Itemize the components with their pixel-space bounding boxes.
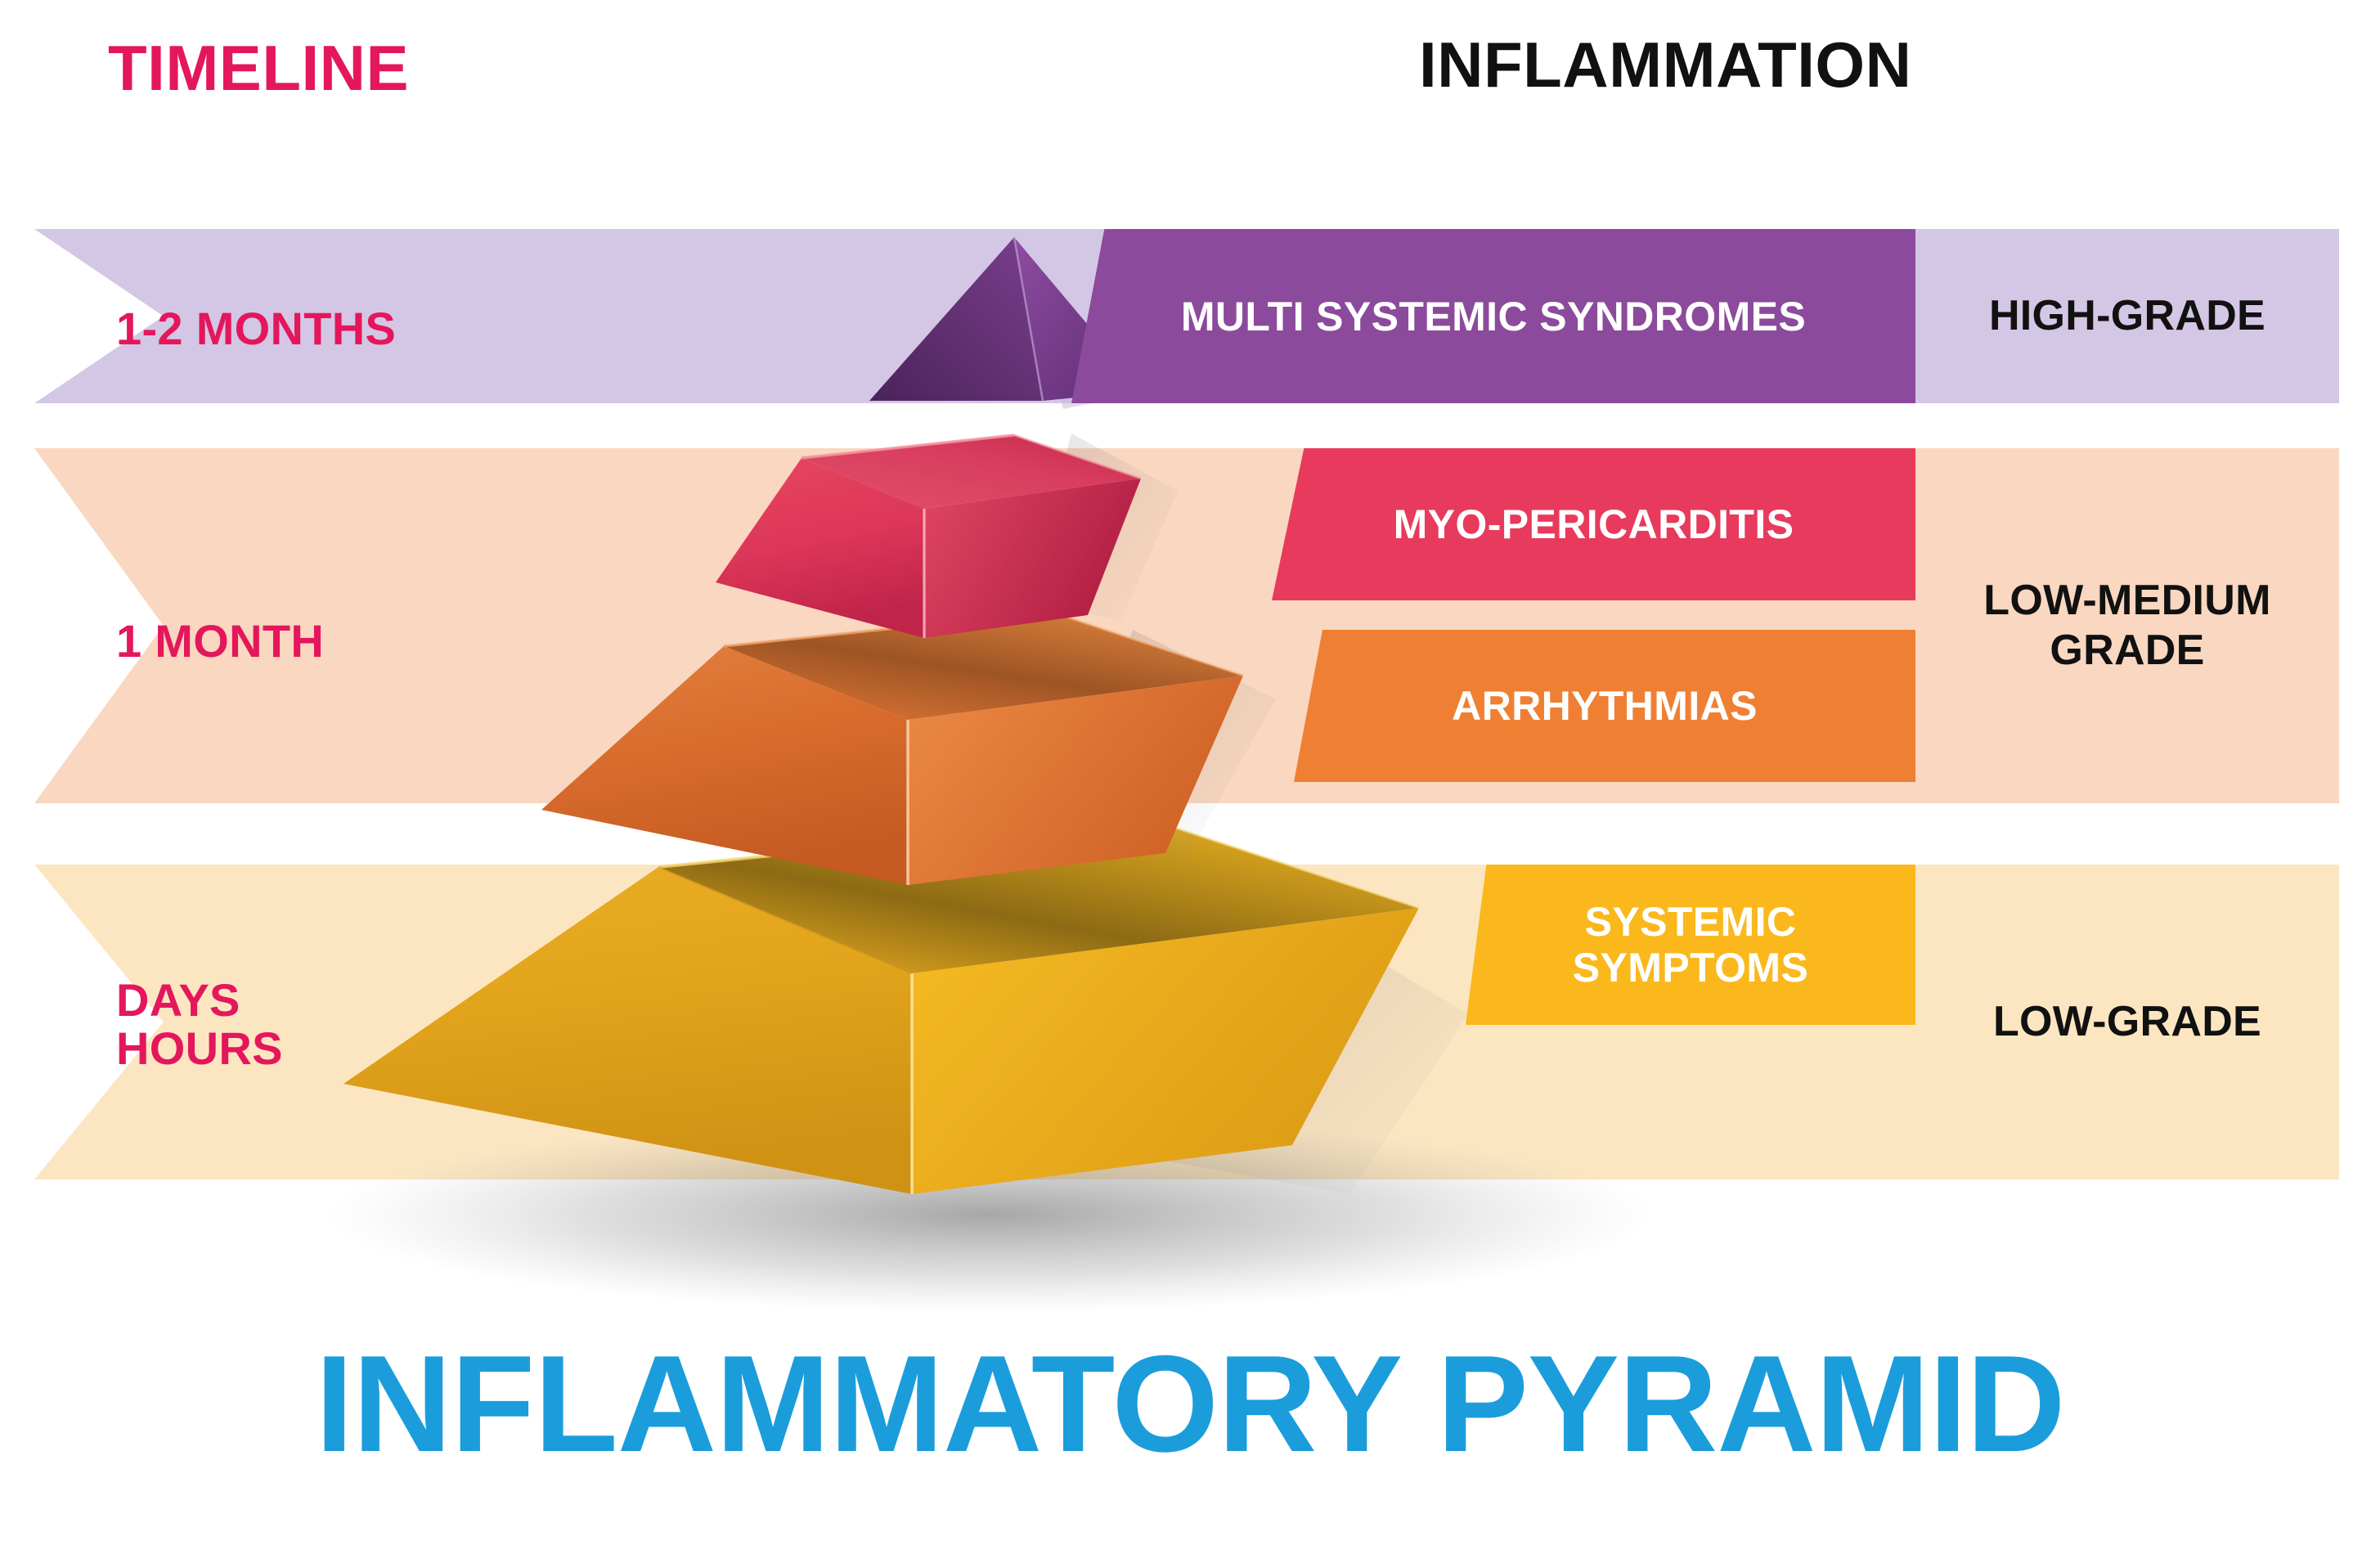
condition-chip-systemic-symptoms[interactable]: SYSTEMIC SYMPTOMS xyxy=(1466,865,1915,1025)
condition-chip-multi-systemic-syndromes[interactable]: MULTI SYSTEMIC SYNDROMES xyxy=(1071,229,1915,403)
timeline-label-1-2-months: 1-2 MONTHS xyxy=(116,304,396,353)
infographic-canvas: TIMELINE INFLAMMATION 1-2 MONTHS 1 MONTH… xyxy=(0,0,2380,1559)
timeline-column-heading: TIMELINE xyxy=(108,36,409,100)
page-title: INFLAMMATORY PYRAMID xyxy=(0,1335,2380,1472)
timeline-label-1-month: 1 MONTH xyxy=(116,617,324,665)
condition-chip-arrhythmias[interactable]: ARRHYTHMIAS xyxy=(1294,630,1915,782)
inflammation-column-heading: INFLAMMATION xyxy=(1419,33,1911,97)
condition-chip-myo-pericarditis[interactable]: MYO-PERICARDITIS xyxy=(1272,448,1915,600)
grade-label-low-medium-grade: LOW-MEDIUM GRADE xyxy=(1915,448,2339,803)
timeline-label-days-hours: DAYS HOURS xyxy=(116,976,283,1073)
grade-label-low-grade: LOW-GRADE xyxy=(1915,865,2339,1179)
grade-label-high-grade: HIGH-GRADE xyxy=(1915,229,2339,403)
